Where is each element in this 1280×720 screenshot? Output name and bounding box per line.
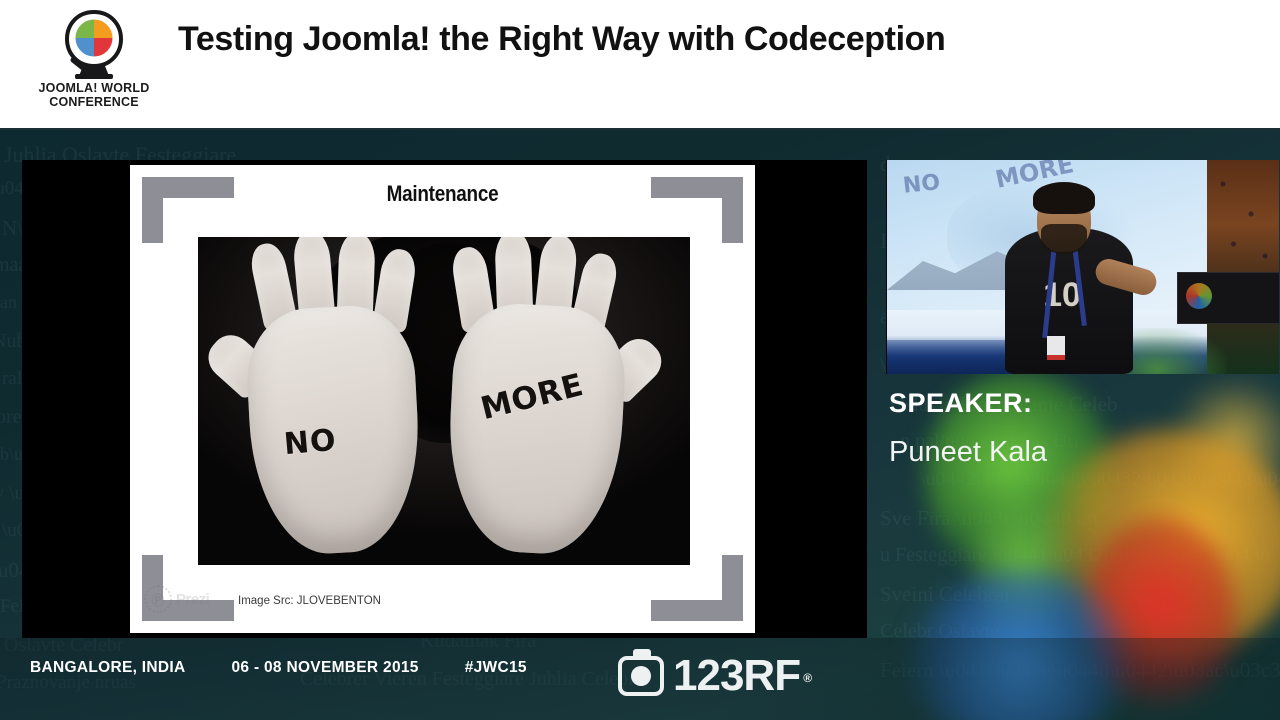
presentation-screen: JOOMLA! WORLD CONFERENCE Testing Joomla!… <box>0 0 1280 720</box>
event-hashtag: #JWC15 <box>465 659 527 677</box>
photo-word-no: NO <box>283 423 338 462</box>
prezi-wordmark: Prezi <box>176 591 209 608</box>
camera-lens-icon <box>631 666 651 686</box>
backdrop-word: Sve Fira \u043e\u0440 op <box>880 506 1098 531</box>
registered-trademark-mark: ® <box>803 656 811 700</box>
prezi-watermark: Ⓟ Prezi <box>144 585 209 613</box>
logo-line-2: CONFERENCE <box>39 95 150 109</box>
projected-word-no: NO <box>902 170 942 199</box>
stage-monitor <box>1177 272 1279 324</box>
logo-line-1: JOOMLA! WORLD <box>39 81 150 95</box>
camera-icon <box>618 656 664 696</box>
slide-corner-top-left <box>142 177 163 243</box>
splash-blob-yellow <box>1170 380 1280 500</box>
slide-corner-top-right <box>722 177 743 243</box>
backdrop-word: Sveini Celebrar <box>880 582 1011 607</box>
event-dates: 06 - 08 NOVEMBER 2015 <box>232 659 419 677</box>
sponsor-123rf-logo[interactable]: 123RF ® <box>618 654 800 698</box>
speaker-hair <box>1033 182 1095 214</box>
splash-blob-orange <box>1040 430 1280 660</box>
stage-wall-texture <box>1209 160 1279 280</box>
slide-image-credit: Image Src: JLOVEBENTON <box>238 595 381 607</box>
slide-corner-bottom-right <box>722 555 743 621</box>
prezi-seal-icon: Ⓟ <box>144 585 172 613</box>
speaker-shirt-number: 10 <box>1027 278 1097 336</box>
splash-blob-green2 <box>970 490 1080 640</box>
slide-photo-no-more-hands: NO MORE <box>198 237 690 565</box>
speaker-beard <box>1041 224 1087 254</box>
joomla-globe-icon <box>63 8 125 80</box>
slide-heading: Maintenance <box>174 181 712 207</box>
page-title: Testing Joomla! the Right Way with Codec… <box>178 20 945 59</box>
event-location: BANGALORE, INDIA <box>30 659 186 677</box>
slide-canvas: Maintenance NO MORE <box>130 165 755 633</box>
joomla-world-conference-logo: JOOMLA! WORLD CONFERENCE <box>26 8 162 120</box>
sponsor-wordmark: 123RF ® <box>673 654 800 698</box>
speaker-video-thumbnail[interactable]: NO MORE 10 <box>886 160 1279 374</box>
logo-wordmark: JOOMLA! WORLD CONFERENCE <box>39 81 150 109</box>
monitor-swirl-icon <box>1186 283 1212 309</box>
speaker-badge-card <box>1047 336 1065 360</box>
speaker-label: SPEAKER: <box>889 388 1033 419</box>
sponsor-name: 123RF <box>673 651 800 700</box>
backdrop-word: u Festeggiare \u0441\u0432\u0430\u0442\u… <box>880 544 1270 567</box>
backdrop-word: \u0442\u043a\u0443\u0432\u0430\u0442\u04… <box>920 468 1280 491</box>
event-details: BANGALORE, INDIA 06 - 08 NOVEMBER 2015 #… <box>30 659 527 677</box>
page-header: JOOMLA! WORLD CONFERENCE Testing Joomla!… <box>0 0 1280 130</box>
slide-viewer[interactable]: Maintenance NO MORE <box>22 160 867 638</box>
speaker-name: Puneet Kala <box>889 436 1047 469</box>
